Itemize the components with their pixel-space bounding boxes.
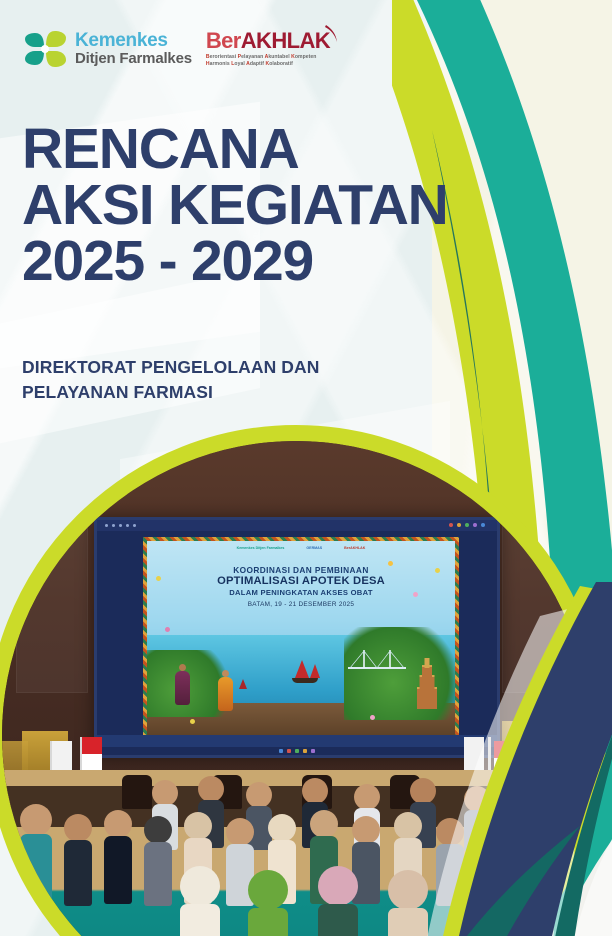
- kemenkes-line-1: Kemenkes: [75, 31, 192, 51]
- slide-boat-sail: [239, 679, 247, 689]
- person: [478, 814, 506, 904]
- slide-tower: [417, 661, 437, 709]
- slide-bridge: [348, 648, 406, 670]
- page-subtitle: DIREKTORAT PENGELOLAAN DAN PELAYANAN FAR…: [22, 355, 442, 406]
- berakhlak-tagline-line-1: Berorientasi Pelayanan Akuntabel Kompete…: [206, 54, 330, 61]
- slide-flower: [388, 561, 393, 566]
- wall-panel: [502, 471, 584, 693]
- cover-page: Kemenkes Ditjen Farmalkes GERMAS BerAKHL…: [0, 0, 612, 936]
- berakhlak-tagline-line-2: Harmonis Loyal Adaptif Kolaboratif: [206, 61, 330, 68]
- screen-window-bar: [97, 520, 497, 531]
- projector-screen: Kemenkes Ditjen Farmalkes GERMAS BerAKHL…: [94, 517, 500, 758]
- screen-taskbar: [97, 747, 497, 755]
- berakhlak-wordmark: BerAKHLAK: [206, 30, 330, 52]
- header-logos: Kemenkes Ditjen Farmalkes BerAKHLAK Bero…: [22, 27, 338, 71]
- slide-flower: [165, 627, 170, 632]
- slide-dancer: [218, 670, 233, 711]
- slide-dancer: [175, 664, 190, 705]
- kemenkes-wordmark: Kemenkes Ditjen Farmalkes: [75, 31, 192, 67]
- slide-boat-sail: [295, 660, 309, 678]
- flag-institution: [464, 737, 484, 771]
- berakhlak-prefix: Ber: [206, 28, 241, 53]
- berakhlak-tagline: Berorientasi Pelayanan Akuntabel Kompete…: [206, 54, 330, 69]
- person: [318, 866, 358, 936]
- person: [388, 870, 428, 936]
- chair: [122, 775, 152, 809]
- person: [436, 818, 464, 906]
- slide-logo-berakhlak: BerAKHLAK: [344, 546, 365, 550]
- berakhlak-suffix: AKHLAK: [241, 28, 330, 53]
- slide-foliage: [344, 627, 459, 721]
- person: [64, 814, 92, 906]
- person: [248, 870, 288, 936]
- check-swoosh-icon: [324, 24, 340, 48]
- wall-panel: [16, 471, 88, 693]
- slide-flower: [413, 592, 418, 597]
- slide-logo-row: Kemenkes Ditjen Farmalkes GERMAS BerAKHL…: [147, 546, 455, 550]
- slide-logo-germas: GERMAS: [306, 546, 322, 550]
- flag-indonesia: [82, 737, 102, 771]
- page-title: RENCANA AKSI KEGIATAN 2025 - 2029: [22, 122, 602, 290]
- slide-line-1: KOORDINASI DAN PEMBINAAN: [147, 565, 455, 575]
- person: [518, 820, 546, 906]
- slide-line-3: DALAM PENINGKATAN AKSES OBAT: [147, 588, 455, 597]
- slide-boat-hull: [292, 678, 318, 683]
- kemenkes-logo: Kemenkes Ditjen Farmalkes: [22, 27, 192, 71]
- slide-logo-kemenkes: Kemenkes Ditjen Farmalkes: [237, 546, 285, 550]
- person: [20, 804, 52, 908]
- kemenkes-clover-logo-icon: [22, 27, 68, 71]
- screen-app-footer: [97, 735, 497, 755]
- presentation-slide: Kemenkes Ditjen Farmalkes GERMAS BerAKHL…: [143, 537, 459, 740]
- person: [180, 866, 220, 936]
- kemenkes-line-2: Ditjen Farmalkes: [75, 51, 192, 67]
- group-photo: Kemenkes Ditjen Farmalkes GERMAS BerAKHL…: [2, 441, 590, 936]
- slide-boat-sail: [310, 664, 320, 678]
- slide-flower: [435, 568, 440, 573]
- photo-frame: Kemenkes Ditjen Farmalkes GERMAS BerAKHL…: [2, 441, 590, 936]
- berakhlak-logo: BerAKHLAK Berorientasi Pelayanan Akuntab…: [206, 30, 338, 69]
- crowd-area: [2, 770, 590, 936]
- slide-line-4: BATAM, 19 - 21 DESEMBER 2025: [147, 601, 455, 608]
- person: [104, 810, 132, 904]
- person: [144, 816, 172, 906]
- slide-line-2: OPTIMALISASI APOTEK DESA: [147, 575, 455, 587]
